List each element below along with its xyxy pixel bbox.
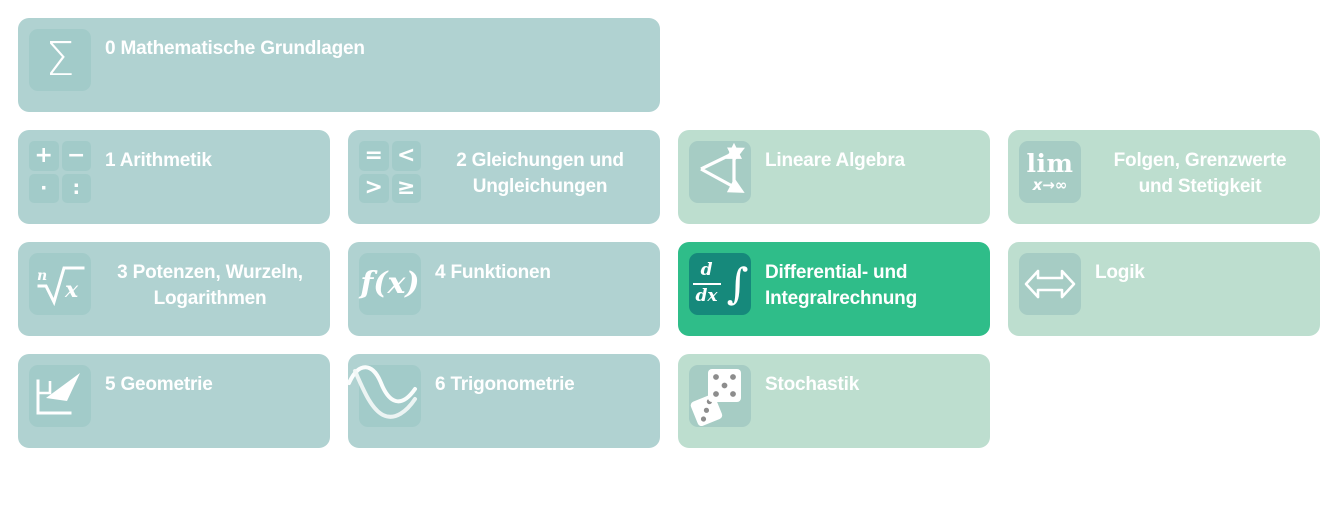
topic-card-label: Folgen, Grenzwerte und Stetigkeit bbox=[1095, 148, 1305, 200]
topic-row-1: Σ 0 Mathematische Grundlagen bbox=[18, 18, 1320, 112]
operator-greater-than: > bbox=[359, 174, 389, 204]
svg-text:x: x bbox=[64, 277, 79, 303]
topic-card-potenzen-wurzeln-logarithmen[interactable]: n x 3 Potenzen, Wurzeln, Logarithmen bbox=[18, 242, 330, 336]
derivative-denominator: dx bbox=[692, 287, 722, 307]
limit-approach-text: x→∞ bbox=[1033, 178, 1068, 193]
sigma-icon: Σ bbox=[29, 29, 91, 91]
topic-card-label: Logik bbox=[1095, 260, 1145, 286]
geometry-angle-icon bbox=[29, 365, 91, 427]
topic-card-geometrie[interactable]: 5 Geometrie bbox=[18, 354, 330, 448]
topic-card-lineare-algebra[interactable]: Lineare Algebra bbox=[678, 130, 990, 224]
topic-card-label: 1 Arithmetik bbox=[105, 148, 212, 174]
svg-text:n: n bbox=[37, 268, 47, 284]
integral-sign: ∫ bbox=[727, 263, 749, 305]
function-fx-icon: f(x) bbox=[359, 253, 421, 315]
operator-greater-equal: ≥ bbox=[392, 174, 422, 204]
topic-card-mathematische-grundlagen[interactable]: Σ 0 Mathematische Grundlagen bbox=[18, 18, 660, 112]
topic-row-2: + − · : 1 Arithmetik = < > ≥ 2 Gleichung… bbox=[18, 130, 1320, 224]
topic-card-label: 0 Mathematische Grundlagen bbox=[105, 36, 365, 62]
operator-minus: − bbox=[62, 141, 92, 171]
topic-card-folgen-grenzwerte-stetigkeit[interactable]: lim x→∞ Folgen, Grenzwerte und Stetigkei… bbox=[1008, 130, 1320, 224]
topic-card-label: 6 Trigonometrie bbox=[435, 372, 575, 398]
function-fx-text: f(x) bbox=[360, 269, 419, 299]
topic-card-trigonometrie[interactable]: 6 Trigonometrie bbox=[348, 354, 660, 448]
arithmetic-operators-icon: + − · : bbox=[29, 141, 91, 203]
topic-card-label: 5 Geometrie bbox=[105, 372, 213, 398]
comparison-operators-icon: = < > ≥ bbox=[359, 141, 421, 203]
operator-less-than: < bbox=[392, 141, 422, 171]
limit-icon: lim x→∞ bbox=[1019, 141, 1081, 203]
topic-card-logik[interactable]: Logik bbox=[1008, 242, 1320, 336]
sine-wave-icon bbox=[359, 365, 421, 427]
topic-card-grid: Σ 0 Mathematische Grundlagen + − · : 1 A… bbox=[18, 18, 1320, 448]
topic-card-funktionen[interactable]: f(x) 4 Funktionen bbox=[348, 242, 660, 336]
operator-equals: = bbox=[359, 141, 389, 171]
topic-row-3: n x 3 Potenzen, Wurzeln, Logarithmen f(x… bbox=[18, 242, 1320, 336]
topic-card-stochastik[interactable]: Stochastik bbox=[678, 354, 990, 448]
topic-card-label: 3 Potenzen, Wurzeln, Logarithmen bbox=[105, 260, 315, 312]
operator-plus: + bbox=[29, 141, 59, 171]
topic-card-arithmetik[interactable]: + − · : 1 Arithmetik bbox=[18, 130, 330, 224]
topic-card-label: Lineare Algebra bbox=[765, 148, 905, 174]
topic-card-differential-integralrechnung[interactable]: d dx ∫ Differential- und Integralrechnun… bbox=[678, 242, 990, 336]
topic-row-4: 5 Geometrie 6 Trigonometrie bbox=[18, 354, 1320, 448]
topic-card-gleichungen-ungleichungen[interactable]: = < > ≥ 2 Gleichungen und Ungleichungen bbox=[348, 130, 660, 224]
dice-icon bbox=[689, 365, 751, 427]
biconditional-arrow-icon bbox=[1019, 253, 1081, 315]
topic-card-label: Stochastik bbox=[765, 372, 859, 398]
limit-lim-text: lim bbox=[1027, 151, 1074, 176]
vectors-triangle-icon bbox=[689, 141, 751, 203]
operator-times: · bbox=[29, 174, 59, 204]
topic-card-label: 2 Gleichungen und Ungleichungen bbox=[435, 148, 645, 200]
nth-root-icon: n x bbox=[29, 253, 91, 315]
topic-grid-empty-slot bbox=[1008, 354, 1320, 448]
derivative-numerator: d bbox=[697, 261, 717, 281]
operator-divide: : bbox=[62, 174, 92, 204]
topic-card-label: Differential- und Integralrechnung bbox=[765, 260, 975, 312]
topic-card-label: 4 Funktionen bbox=[435, 260, 551, 286]
fraction-bar bbox=[693, 283, 721, 286]
derivative-integral-icon: d dx ∫ bbox=[689, 253, 751, 315]
